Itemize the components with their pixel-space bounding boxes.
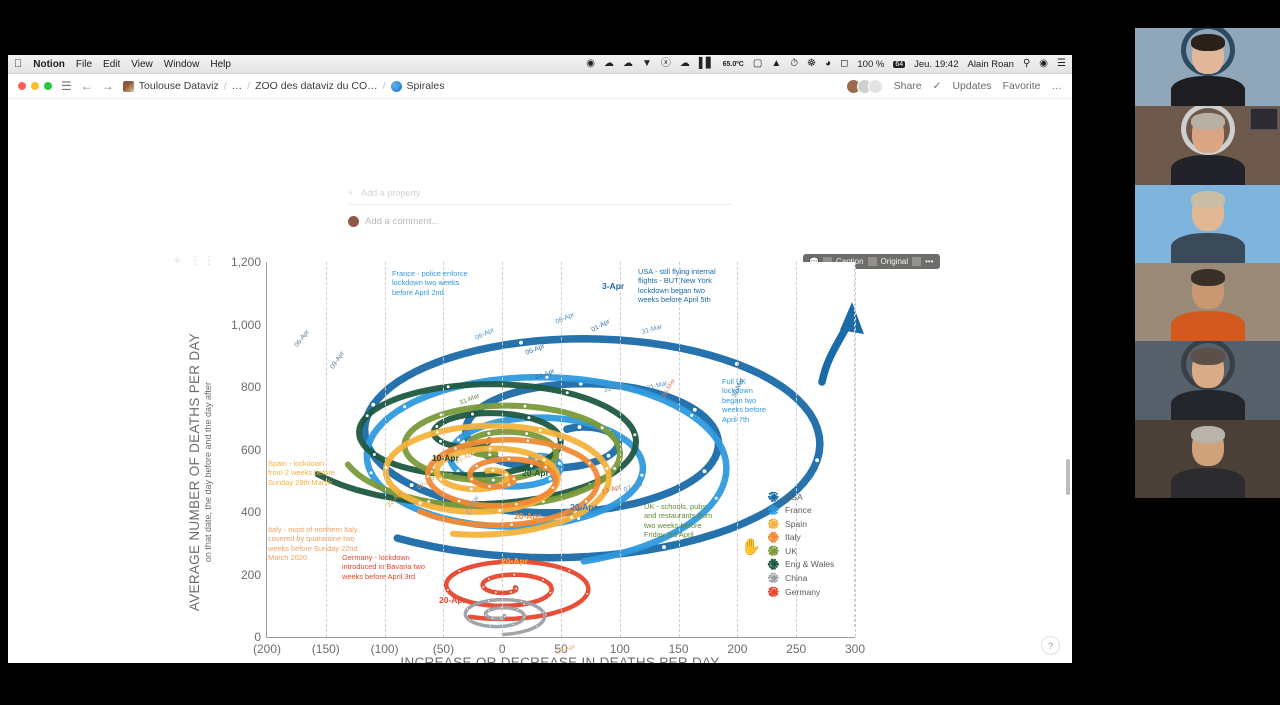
forward-arrow-icon[interactable]: →	[102, 79, 114, 93]
video-tile-5[interactable]	[1135, 341, 1280, 419]
data-point	[662, 545, 667, 550]
y-axis-tick: 600	[241, 443, 261, 457]
data-point	[491, 468, 495, 472]
clock-icon[interactable]: ⏱	[790, 59, 798, 69]
participant-hair	[1191, 34, 1225, 51]
airplay-icon[interactable]: ◻	[840, 59, 848, 69]
video-tile-6[interactable]	[1135, 420, 1280, 498]
data-point	[507, 483, 511, 487]
favorite-button[interactable]: Favorite	[1003, 80, 1041, 92]
battery-icon[interactable]: 64	[893, 61, 905, 68]
y-axis-tick: 1,000	[231, 318, 261, 332]
spiral-chart: AVERAGE NUMBER OF DEATHS PER DAY on that…	[204, 257, 864, 663]
data-point	[633, 433, 637, 437]
legend-label: UK	[785, 546, 797, 556]
avatar	[348, 216, 359, 227]
data-point	[435, 430, 439, 434]
data-point	[468, 619, 470, 621]
share-button[interactable]: Share	[894, 80, 922, 92]
data-point	[815, 458, 820, 463]
data-point	[446, 589, 449, 592]
legend-item-germany[interactable]: Germany	[768, 586, 834, 597]
caret-icon[interactable]: ▲	[771, 59, 781, 69]
uk-schools-note: UK - schools, pubs and restaurants from …	[644, 502, 712, 540]
data-point	[494, 591, 497, 594]
hamburger-icon[interactable]: ☰	[61, 79, 72, 93]
virus-icon	[768, 491, 779, 502]
breadcrumb-item-spirales[interactable]: Spirales	[407, 80, 445, 92]
data-point	[512, 623, 514, 625]
data-point	[542, 611, 544, 613]
add-property-label: Add a property	[361, 188, 420, 198]
more-options-button[interactable]: …	[1052, 80, 1063, 92]
data-point	[487, 577, 490, 580]
data-point	[372, 453, 376, 457]
gridline	[502, 262, 503, 637]
legend-item-usa[interactable]: USA	[768, 491, 834, 502]
data-point	[520, 600, 522, 602]
participant-hair	[1191, 113, 1225, 130]
cpu-temperature[interactable]: 65.0ºC	[723, 61, 744, 68]
data-point	[600, 426, 604, 430]
menu-notion[interactable]: Notion	[33, 59, 65, 70]
data-point	[542, 458, 546, 462]
data-point	[489, 625, 491, 627]
video-participants-panel	[1135, 28, 1280, 498]
y-axis-tick: 400	[241, 505, 261, 519]
back-arrow-icon[interactable]: ←	[81, 79, 93, 93]
screen:  Notion File Edit View Window Help ◉ ☁ …	[0, 0, 1280, 705]
data-point	[458, 570, 461, 573]
macos-menubar:  Notion File Edit View Window Help ◉ ☁ …	[8, 55, 1072, 74]
breadcrumb-separator: /	[247, 80, 250, 92]
data-point	[439, 477, 443, 481]
gridline	[326, 262, 327, 637]
y-axis-label-main: AVERAGE NUMBER OF DEATHS PER DAY	[187, 333, 202, 611]
breadcrumb-item-workspace[interactable]: Toulouse Dataviz	[139, 80, 219, 92]
legend-label: Germany	[785, 587, 820, 597]
add-comment-row[interactable]: Add a comment...	[348, 216, 439, 227]
point-label: 20-Apr	[514, 511, 541, 521]
data-point	[565, 391, 569, 395]
data-point	[487, 431, 491, 435]
data-point	[488, 485, 492, 489]
usa-arrow-head	[840, 302, 864, 334]
point-label: 20-Apr	[501, 556, 528, 566]
data-point	[536, 625, 538, 627]
x-axis-tick: 250	[786, 642, 806, 656]
participant-body	[1171, 468, 1245, 498]
data-point	[702, 469, 707, 474]
data-point	[605, 467, 609, 471]
menubar-status-area: ◉ ☁ ☁ ▼ ⓧ ☁ ▌▋ 65.0ºC ▢ ▲ ⏱ ☸ ◕ ◻ 100 % …	[586, 59, 1066, 70]
divider	[868, 257, 877, 266]
x-axis-tick: 200	[727, 642, 747, 656]
legend-item-italy[interactable]: Italy	[768, 532, 834, 543]
participant-body	[1171, 233, 1245, 263]
x-axis-tick: 0	[499, 642, 506, 656]
germany-note: Germany - lockdown introduced in Bavaria…	[342, 553, 425, 581]
stats-icon[interactable]: ▌▋	[699, 59, 714, 69]
original-button[interactable]: Original	[877, 257, 913, 266]
virus-icon	[768, 518, 779, 529]
data-point	[491, 478, 495, 482]
data-point	[457, 499, 461, 503]
add-comment-placeholder: Add a comment...	[365, 216, 439, 227]
battery-percent[interactable]: 100 %	[857, 59, 884, 70]
legend-label: France	[785, 505, 812, 515]
data-point	[446, 385, 450, 389]
legend-item-france[interactable]: France	[768, 505, 834, 516]
add-property-button[interactable]: + Add a property	[348, 188, 420, 198]
video-tile-3[interactable]	[1135, 185, 1280, 263]
participant-hair	[1191, 426, 1225, 443]
settings-gear-icon[interactable]: ◉	[586, 59, 595, 69]
legend-label: Italy	[785, 532, 801, 542]
data-point	[640, 473, 644, 477]
data-point	[512, 477, 516, 481]
data-point	[515, 502, 519, 506]
data-point	[435, 425, 439, 429]
virus-icon	[768, 545, 779, 556]
data-point	[369, 471, 373, 475]
data-point	[491, 617, 493, 619]
point-label: 20-Apr	[570, 502, 597, 512]
x-axis-tick: 100	[610, 642, 630, 656]
breadcrumb: Toulouse Dataviz / … / ZOO des dataviz d…	[123, 80, 445, 92]
menubar-items:  Notion File Edit View Window Help	[14, 59, 231, 70]
data-point	[498, 509, 502, 513]
data-point	[454, 447, 458, 451]
x-axis-tick: (200)	[253, 642, 281, 656]
data-point	[527, 416, 531, 420]
usa-note: USA - still flying internal flights - BU…	[638, 267, 716, 305]
menu-window[interactable]: Window	[164, 59, 200, 70]
chart-legend: USAFranceSpainItalyUKEng & WalesChinaGer…	[768, 491, 834, 597]
help-button[interactable]: ?	[1041, 636, 1060, 655]
legend-item-spain[interactable]: Spain	[768, 518, 834, 529]
divider	[348, 204, 733, 205]
close-icon[interactable]	[18, 82, 26, 90]
image-more-button[interactable]: •••	[921, 257, 937, 266]
participant-hair	[1191, 348, 1225, 365]
x-axis-tick: (50)	[433, 642, 454, 656]
menu-help[interactable]: Help	[210, 59, 231, 70]
data-point	[509, 591, 512, 594]
data-point	[588, 462, 592, 466]
data-point	[409, 483, 414, 488]
data-point	[471, 412, 475, 416]
data-point	[488, 600, 490, 602]
participant-hair	[1191, 269, 1225, 286]
breadcrumb-item-zoo[interactable]: ZOO des dataviz du CO…	[255, 80, 378, 92]
avatar-group[interactable]	[846, 79, 883, 94]
gridline	[679, 262, 680, 637]
legend-divider	[854, 269, 855, 627]
data-point	[517, 609, 519, 611]
plus-icon: +	[348, 188, 353, 198]
virus-icon	[768, 532, 779, 543]
wifi-icon[interactable]: ◕	[825, 59, 831, 69]
cloud-icon[interactable]: ☁	[604, 59, 614, 69]
data-point	[488, 447, 492, 451]
y-axis-tick: 200	[241, 568, 261, 582]
data-point	[504, 615, 506, 617]
data-point	[523, 404, 527, 408]
data-point	[551, 486, 555, 490]
data-point	[523, 616, 525, 618]
mouse-cursor: ✋	[741, 537, 761, 557]
data-point	[549, 591, 552, 594]
data-point	[568, 569, 571, 572]
y-axis-tick: 1,200	[231, 255, 261, 269]
participant-hair	[1191, 191, 1225, 208]
search-icon[interactable]: ⚲	[1023, 59, 1030, 69]
video-tile-1[interactable]	[1135, 28, 1280, 106]
virus-icon	[768, 505, 779, 516]
data-point	[439, 413, 443, 417]
data-point	[482, 586, 485, 589]
cloud-icon[interactable]: ☁	[680, 59, 690, 69]
data-point	[538, 428, 542, 432]
legend-label: China	[785, 573, 807, 583]
video-tile-2[interactable]	[1135, 106, 1280, 184]
notification-center-icon[interactable]: ☰	[1057, 59, 1066, 69]
data-point	[507, 457, 511, 461]
page-icon	[391, 81, 402, 92]
data-point	[586, 592, 589, 595]
point-label: 20-Apr	[439, 595, 466, 605]
siri-icon[interactable]: ◉	[1039, 59, 1048, 69]
data-point	[418, 501, 422, 505]
data-point	[488, 453, 492, 457]
point-label: 3-Apr	[602, 281, 624, 291]
menu-edit[interactable]: Edit	[103, 59, 120, 70]
cloud-icon[interactable]: ☁	[623, 59, 633, 69]
data-point	[570, 515, 574, 519]
participant-body	[1171, 311, 1245, 341]
bluetooth-icon[interactable]: ☸	[807, 59, 816, 69]
data-point	[504, 473, 508, 477]
data-point	[475, 464, 479, 468]
avatar[interactable]	[868, 79, 883, 94]
data-point	[439, 439, 443, 443]
notion-actions: Share ✓ Updates Favorite …	[846, 79, 1062, 94]
data-point	[487, 609, 489, 611]
workspace-icon	[123, 81, 134, 92]
legend-label: Spain	[785, 519, 807, 529]
y-axis-tick: 800	[241, 380, 261, 394]
legend-item-eng-wales[interactable]: Eng & Wales	[768, 559, 834, 570]
menubar-username[interactable]: Alain Roan	[967, 59, 1013, 70]
participant-body	[1171, 390, 1245, 420]
x-axis-label-main: INCREASE OR DECREASE IN DEATHS PER DAY	[266, 655, 854, 663]
breadcrumb-separator: /	[383, 80, 386, 92]
data-point	[469, 487, 473, 491]
x-axis-tick: 300	[845, 642, 865, 656]
legend-item-china[interactable]: China	[768, 573, 834, 584]
legend-item-uk[interactable]: UK	[768, 545, 834, 556]
y-axis-label-sub: on that date, the day before and the day…	[203, 333, 213, 611]
uk-full-lockdown-note: Full UK lockdown began two weeks before …	[722, 377, 766, 424]
maximize-icon[interactable]	[44, 82, 52, 90]
updates-button[interactable]: Updates	[952, 80, 991, 92]
data-point	[513, 573, 516, 576]
menu-file[interactable]: File	[76, 59, 92, 70]
video-tile-4[interactable]	[1135, 263, 1280, 341]
data-point	[542, 578, 545, 581]
spain-note: Spain - lockdown from 2 weeks before Sun…	[268, 459, 335, 487]
scrollbar[interactable]	[1066, 459, 1070, 495]
data-point	[714, 496, 718, 500]
gridline	[620, 262, 621, 637]
participant-body	[1171, 155, 1245, 185]
divider	[912, 257, 921, 266]
data-point	[692, 407, 697, 412]
gridline	[443, 262, 444, 637]
data-point	[690, 413, 694, 417]
virus-icon	[768, 573, 779, 584]
legend-label: Eng & Wales	[785, 559, 834, 569]
data-point	[525, 432, 529, 436]
data-point	[485, 614, 487, 616]
data-point	[466, 608, 468, 610]
gridline	[855, 262, 856, 637]
point-label: 20-Apr	[522, 468, 549, 478]
updates-check-icon: ✓	[933, 80, 942, 92]
apple-logo-icon[interactable]: 	[14, 59, 22, 70]
data-point	[577, 425, 582, 430]
virus-icon	[768, 559, 779, 570]
x-axis-tick: 150	[669, 642, 689, 656]
timer-icon[interactable]: ⓧ	[661, 59, 671, 69]
data-point	[403, 405, 407, 409]
data-point	[470, 477, 474, 481]
data-point	[519, 340, 524, 345]
gridline	[737, 262, 738, 637]
notion-page-body: + Add a property Add a comment... + ⋮⋮ 💬…	[8, 99, 1072, 663]
participant-body	[1171, 76, 1245, 106]
display-icon[interactable]: ▢	[753, 59, 762, 69]
data-point	[457, 438, 461, 442]
drive-icon[interactable]: ▼	[642, 59, 652, 69]
data-point	[365, 414, 369, 418]
picture-in-picture-tile[interactable]	[1250, 108, 1278, 130]
x-axis-label: INCREASE OR DECREASE IN DEATHS PER DAY (…	[266, 655, 854, 663]
data-point	[606, 453, 611, 458]
menu-view[interactable]: View	[131, 59, 153, 70]
data-point	[613, 467, 617, 471]
window-controls[interactable]	[18, 82, 52, 90]
notion-window:  Notion File Edit View Window Help ◉ ☁ …	[8, 55, 1072, 663]
data-point	[510, 523, 514, 527]
notion-topbar: ☰ ← → Toulouse Dataviz / … / ZOO des dat…	[8, 74, 1072, 99]
data-point	[515, 587, 518, 590]
x-axis-tick: (100)	[371, 642, 399, 656]
france-note: France - police enforce lockdown two wee…	[392, 269, 468, 297]
virus-icon	[768, 586, 779, 597]
clock-datetime[interactable]: Jeu. 19:42	[914, 59, 958, 70]
minimize-icon[interactable]	[31, 82, 39, 90]
breadcrumb-item-ellipsis[interactable]: …	[232, 80, 243, 92]
breadcrumb-separator: /	[224, 80, 227, 92]
x-axis-tick: (150)	[312, 642, 340, 656]
y-axis-label: AVERAGE NUMBER OF DEATHS PER DAY on that…	[187, 333, 213, 611]
data-point	[526, 439, 530, 443]
legend-label: USA	[785, 492, 803, 502]
